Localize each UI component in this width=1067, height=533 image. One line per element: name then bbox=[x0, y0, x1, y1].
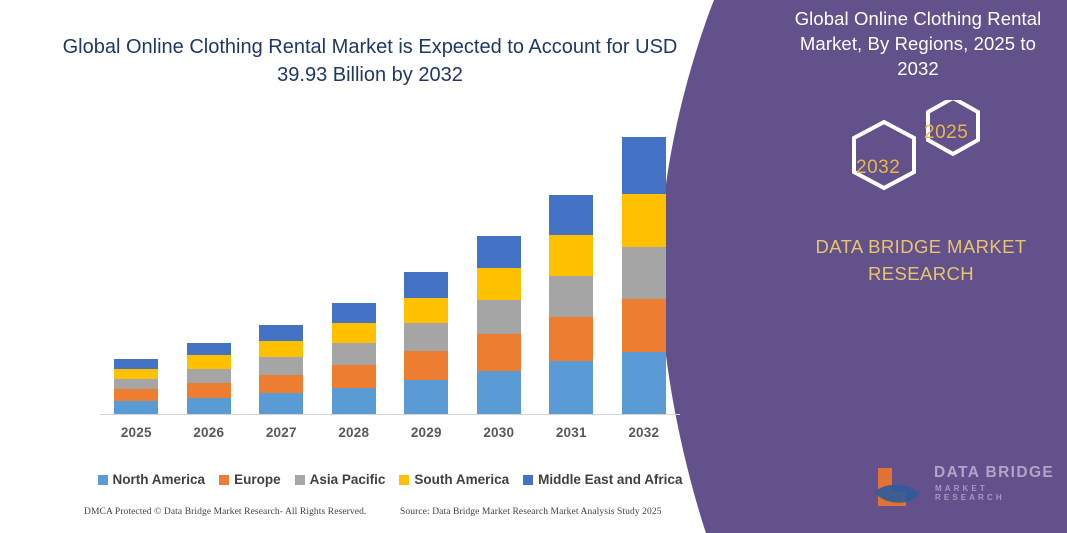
bar-group-2030[interactable] bbox=[477, 236, 521, 415]
bar-segment-2025-asia-pacific[interactable] bbox=[114, 379, 158, 390]
x-axis-label-2026: 2026 bbox=[174, 425, 244, 440]
bar-segment-2026-south-america[interactable] bbox=[187, 355, 231, 368]
chart-legend: North AmericaEuropeAsia PacificSouth Ame… bbox=[100, 472, 680, 487]
bar-segment-2026-europe[interactable] bbox=[187, 383, 231, 398]
bar-group-2027[interactable] bbox=[259, 325, 303, 415]
x-axis-label-2030: 2030 bbox=[464, 425, 534, 440]
bar-segment-2026-north-america[interactable] bbox=[187, 398, 231, 415]
bar-segment-2030-south-america[interactable] bbox=[477, 268, 521, 301]
bar-segment-2031-south-america[interactable] bbox=[549, 235, 593, 275]
dbmr-logo-subtext: MARKET RESEARCH bbox=[935, 484, 1058, 502]
x-axis-line bbox=[100, 414, 680, 415]
legend-item-europe[interactable]: Europe bbox=[219, 472, 281, 487]
bar-segment-2028-north-america[interactable] bbox=[332, 388, 376, 415]
bar-segment-2028-asia-pacific[interactable] bbox=[332, 343, 376, 364]
bar-segment-2031-asia-pacific[interactable] bbox=[549, 276, 593, 318]
bar-group-2029[interactable] bbox=[404, 272, 448, 415]
bar-group-2032[interactable] bbox=[622, 137, 666, 415]
legend-item-south-america[interactable]: South America bbox=[399, 472, 509, 487]
x-axis-label-2028: 2028 bbox=[319, 425, 389, 440]
hexagon-group: 2032 2025 bbox=[820, 100, 1020, 220]
bar-segment-2031-middle-east-and-africa[interactable] bbox=[549, 195, 593, 235]
bar-segment-2031-north-america[interactable] bbox=[549, 361, 593, 415]
bar-segment-2029-north-america[interactable] bbox=[404, 380, 448, 415]
bar-segment-2032-europe[interactable] bbox=[622, 299, 666, 352]
brand-name: DATA BRIDGE MARKET RESEARCH bbox=[790, 233, 1052, 287]
legend-swatch-asia-pacific bbox=[295, 475, 305, 485]
x-axis-label-2032: 2032 bbox=[609, 425, 679, 440]
hexagon-2025-label: 2025 bbox=[924, 122, 968, 144]
bar-chart-plot-area bbox=[100, 100, 680, 415]
legend-item-middle-east-and-africa[interactable]: Middle East and Africa bbox=[523, 472, 682, 487]
chart-title: Global Online Clothing Rental Market is … bbox=[60, 33, 680, 89]
legend-item-north-america[interactable]: North America bbox=[98, 472, 206, 487]
bar-segment-2030-europe[interactable] bbox=[477, 334, 521, 370]
dbmr-logo-mark bbox=[872, 462, 928, 508]
legend-label-europe: Europe bbox=[234, 472, 281, 487]
legend-swatch-north-america bbox=[98, 475, 108, 485]
bar-segment-2028-south-america[interactable] bbox=[332, 323, 376, 344]
bar-segment-2030-middle-east-and-africa[interactable] bbox=[477, 236, 521, 268]
legend-swatch-middle-east-and-africa bbox=[523, 475, 533, 485]
footer-source: Source: Data Bridge Market Research Mark… bbox=[400, 507, 662, 517]
bar-group-2025[interactable] bbox=[114, 359, 158, 415]
legend-swatch-south-america bbox=[399, 475, 409, 485]
legend-item-asia-pacific[interactable]: Asia Pacific bbox=[295, 472, 386, 487]
dbmr-logo: DATA BRIDGE MARKET RESEARCH bbox=[872, 462, 1058, 510]
bar-segment-2027-north-america[interactable] bbox=[259, 393, 303, 415]
x-axis-label-2031: 2031 bbox=[536, 425, 606, 440]
bar-segment-2025-europe[interactable] bbox=[114, 389, 158, 401]
x-axis-label-2025: 2025 bbox=[101, 425, 171, 440]
bar-segment-2029-europe[interactable] bbox=[404, 351, 448, 380]
bar-group-2031[interactable] bbox=[549, 195, 593, 415]
bar-segment-2027-europe[interactable] bbox=[259, 375, 303, 394]
bar-group-2028[interactable] bbox=[332, 303, 376, 415]
bar-segment-2027-south-america[interactable] bbox=[259, 341, 303, 358]
bar-segment-2027-middle-east-and-africa[interactable] bbox=[259, 325, 303, 341]
bar-segment-2032-asia-pacific[interactable] bbox=[622, 247, 666, 299]
dbmr-logo-text: DATA BRIDGE bbox=[934, 464, 1054, 482]
bar-segment-2028-europe[interactable] bbox=[332, 365, 376, 388]
legend-label-north-america: North America bbox=[113, 472, 206, 487]
bar-segment-2025-north-america[interactable] bbox=[114, 401, 158, 415]
bar-segment-2032-middle-east-and-africa[interactable] bbox=[622, 137, 666, 194]
x-axis-label-2027: 2027 bbox=[246, 425, 316, 440]
legend-label-middle-east-and-africa: Middle East and Africa bbox=[538, 472, 682, 487]
bar-segment-2031-europe[interactable] bbox=[549, 317, 593, 361]
x-axis-label-2029: 2029 bbox=[391, 425, 461, 440]
bar-group-2026[interactable] bbox=[187, 343, 231, 415]
footer-copyright: DMCA Protected © Data Bridge Market Rese… bbox=[84, 507, 366, 517]
bar-segment-2027-asia-pacific[interactable] bbox=[259, 357, 303, 374]
bar-segment-2032-south-america[interactable] bbox=[622, 194, 666, 247]
bar-segment-2025-south-america[interactable] bbox=[114, 369, 158, 379]
panel-heading: Global Online Clothing Rental Market, By… bbox=[778, 6, 1058, 81]
bar-segment-2032-north-america[interactable] bbox=[622, 352, 666, 415]
bar-segment-2026-asia-pacific[interactable] bbox=[187, 369, 231, 383]
bar-segment-2030-north-america[interactable] bbox=[477, 371, 521, 415]
legend-swatch-europe bbox=[219, 475, 229, 485]
hexagon-2032-label: 2032 bbox=[856, 157, 900, 179]
bar-segment-2030-asia-pacific[interactable] bbox=[477, 300, 521, 334]
bar-segment-2029-south-america[interactable] bbox=[404, 298, 448, 324]
bar-segment-2025-middle-east-and-africa[interactable] bbox=[114, 359, 158, 368]
bar-segment-2026-middle-east-and-africa[interactable] bbox=[187, 343, 231, 356]
bar-segment-2029-middle-east-and-africa[interactable] bbox=[404, 272, 448, 297]
legend-label-asia-pacific: Asia Pacific bbox=[310, 472, 386, 487]
infographic-canvas: Global Online Clothing Rental Market, By… bbox=[0, 0, 1067, 533]
legend-label-south-america: South America bbox=[414, 472, 509, 487]
bar-segment-2029-asia-pacific[interactable] bbox=[404, 323, 448, 350]
bar-segment-2028-middle-east-and-africa[interactable] bbox=[332, 303, 376, 323]
